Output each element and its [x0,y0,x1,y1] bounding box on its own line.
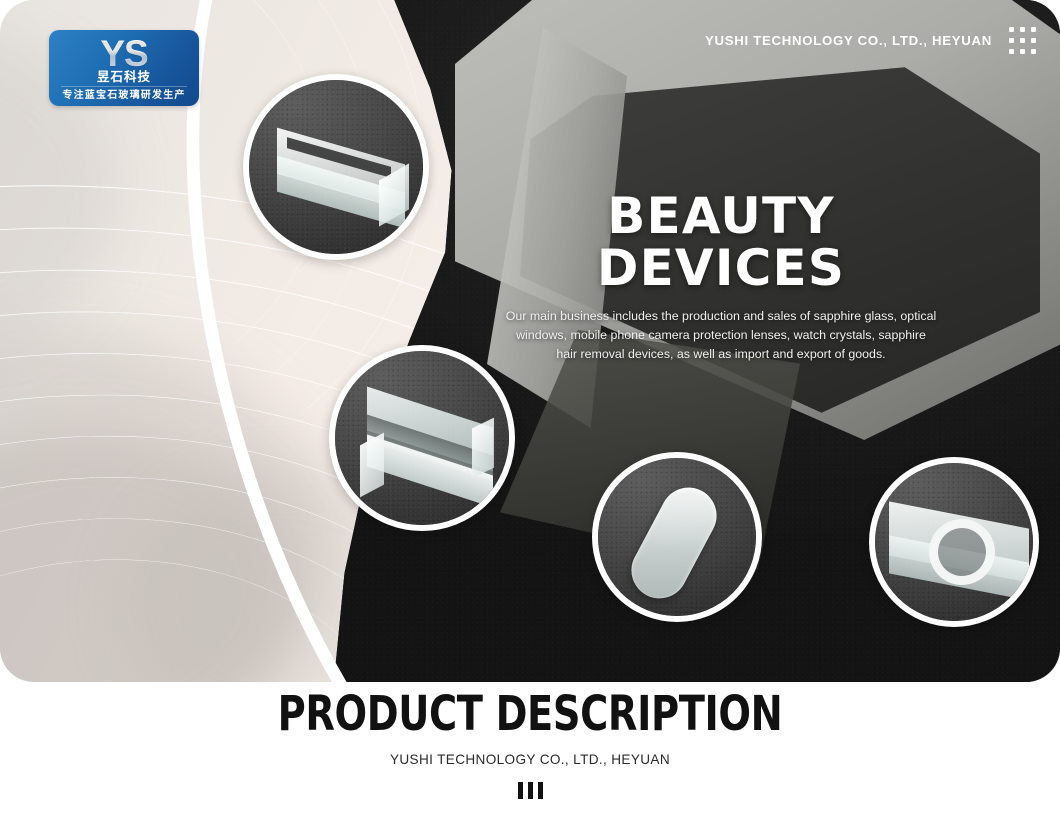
product-description-section: PRODUCT DESCRIPTION YUSHI TECHNOLOGY CO.… [0,690,1060,799]
page-title: BEAUTY DEVICES [505,190,937,294]
product-image-sapphire-glass-bar[interactable] [243,74,429,260]
section-subtitle: YUSHI TECHNOLOGY CO., LTD., HEYUAN [0,752,1060,767]
hero-banner: YS 昱石科技 专注蓝宝石玻璃研发生产 YUSHI TECHNOLOGY CO.… [0,0,1060,682]
product-backdrop [329,345,515,531]
logo-slogan: 专注蓝宝石玻璃研发生产 [49,89,199,102]
product-image-sapphire-bored-block[interactable] [869,457,1039,627]
background-blob [0,330,330,682]
section-title: PRODUCT DESCRIPTION [106,690,954,738]
hero-copy: BEAUTY DEVICES Our main business include… [505,190,937,365]
logo-divider [61,86,187,87]
background-blob [0,430,300,682]
section-divider-bars [0,782,1060,799]
grid-dots-icon[interactable] [1009,27,1036,54]
product-backdrop [243,74,429,260]
header-brand-bar: YUSHI TECHNOLOGY CO., LTD., HEYUAN [705,27,1036,54]
hero-description: Our main business includes the productio… [505,307,937,365]
header-brand-text: YUSHI TECHNOLOGY CO., LTD., HEYUAN [705,33,992,48]
company-logo[interactable]: YS 昱石科技 专注蓝宝石玻璃研发生产 [49,30,199,106]
product-backdrop [869,457,1039,627]
product-image-sapphire-rounded-lens[interactable] [592,452,762,622]
logo-monogram: YS [49,35,199,72]
logo-chinese-name: 昱石科技 [49,71,199,84]
product-backdrop [592,452,762,622]
product-image-sapphire-stepped-block[interactable] [329,345,515,531]
